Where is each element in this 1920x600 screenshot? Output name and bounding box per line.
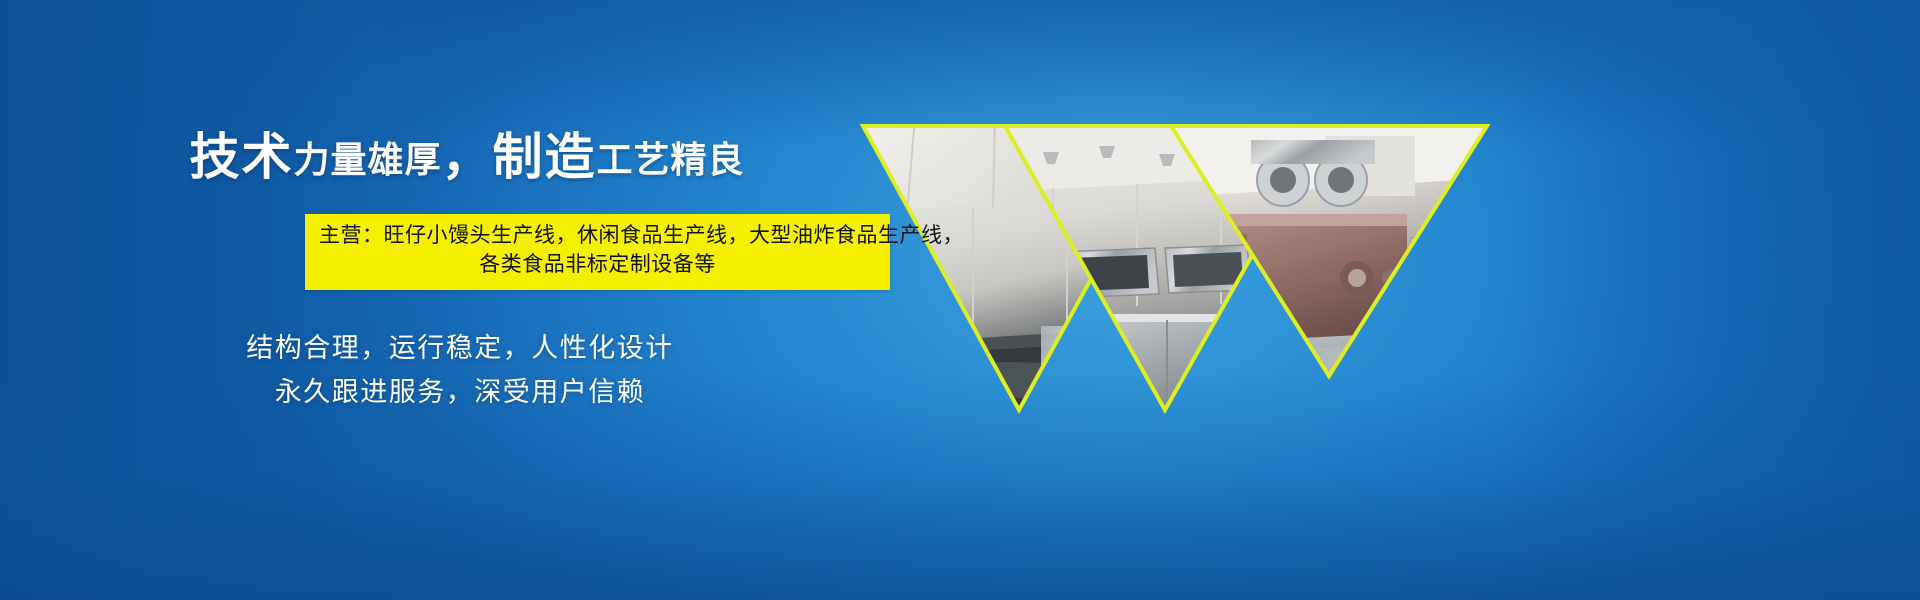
background-vignette-right xyxy=(1500,0,1920,600)
promo-banner: 技术力量雄厚，制造工艺精良 主营：旺仔小馒头生产线，休闲食品生产线，大型油炸食品… xyxy=(0,0,1920,600)
headline-seg-4: 制造 xyxy=(493,129,597,185)
headline-seg-3: ， xyxy=(442,129,493,185)
page-title: 技术力量雄厚，制造工艺精良 xyxy=(0,132,900,182)
background-vignette-left xyxy=(0,0,520,600)
triangle-photo-montage xyxy=(855,118,1495,418)
banner-text-block: 技术力量雄厚，制造工艺精良 主营：旺仔小馒头生产线，休闲食品生产线，大型油炸食品… xyxy=(0,132,900,188)
highlight-box-line-2: 各类食品非标定制设备等 xyxy=(319,251,876,280)
subtitle-line-2: 永久跟进服务，深受用户信赖 xyxy=(20,371,900,415)
headline-seg-2: 力量雄厚 xyxy=(293,139,441,180)
headline-seg-1: 技术 xyxy=(189,129,293,185)
headline-seg-5: 工艺精良 xyxy=(597,139,745,180)
highlight-box: 主营：旺仔小馒头生产线，休闲食品生产线，大型油炸食品生产线， 各类食品非标定制设… xyxy=(305,214,890,290)
highlight-box-line-1: 主营：旺仔小馒头生产线，休闲食品生产线，大型油炸食品生产线， xyxy=(319,222,876,251)
subtitle-list: 结构合理，运行稳定，人性化设计 永久跟进服务，深受用户信赖 xyxy=(0,327,900,414)
subtitle-line-1: 结构合理，运行稳定，人性化设计 xyxy=(20,327,900,371)
